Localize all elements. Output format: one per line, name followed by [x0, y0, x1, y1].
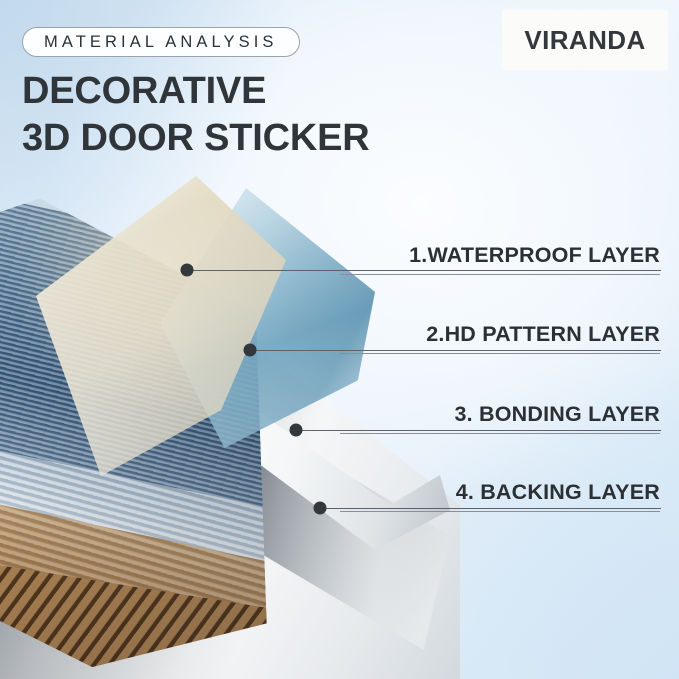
eyebrow-label: MATERIAL ANALYSIS [44, 33, 278, 52]
callout-dot-1 [181, 264, 194, 277]
layer-label-2: 2.HD PATTERN LAYER [340, 322, 660, 354]
page-title-line-2: 3D DOOR STICKER [22, 115, 492, 162]
page-title-line-1: DECORATIVE [22, 68, 492, 115]
material-analysis-infographic: MATERIAL ANALYSIS DECORATIVE 3D DOOR STI… [0, 0, 679, 679]
layer-label-4: 4. BACKING LAYER [340, 480, 660, 512]
layer-label-2-text: 2.HD PATTERN LAYER [340, 322, 660, 353]
callout-dot-3 [290, 424, 303, 437]
brand-logo-plate: VIRANDA [502, 10, 668, 70]
layer-label-4-rule [340, 511, 660, 512]
eyebrow-badge: MATERIAL ANALYSIS [22, 27, 300, 57]
callout-dot-4 [314, 502, 327, 515]
layer-label-1-text: 1.WATERPROOF LAYER [340, 243, 660, 274]
brand-name: VIRANDA [524, 25, 645, 56]
layer-label-3: 3. BONDING LAYER [340, 402, 660, 434]
layer-label-3-rule [340, 433, 660, 434]
layer-label-2-rule [340, 353, 660, 354]
page-title: DECORATIVE 3D DOOR STICKER [22, 68, 492, 162]
layer-label-1-rule [340, 274, 660, 275]
layer-label-3-text: 3. BONDING LAYER [340, 402, 660, 433]
layer-label-1: 1.WATERPROOF LAYER [340, 243, 660, 275]
callout-dot-2 [244, 344, 257, 357]
layer-label-4-text: 4. BACKING LAYER [340, 480, 660, 511]
